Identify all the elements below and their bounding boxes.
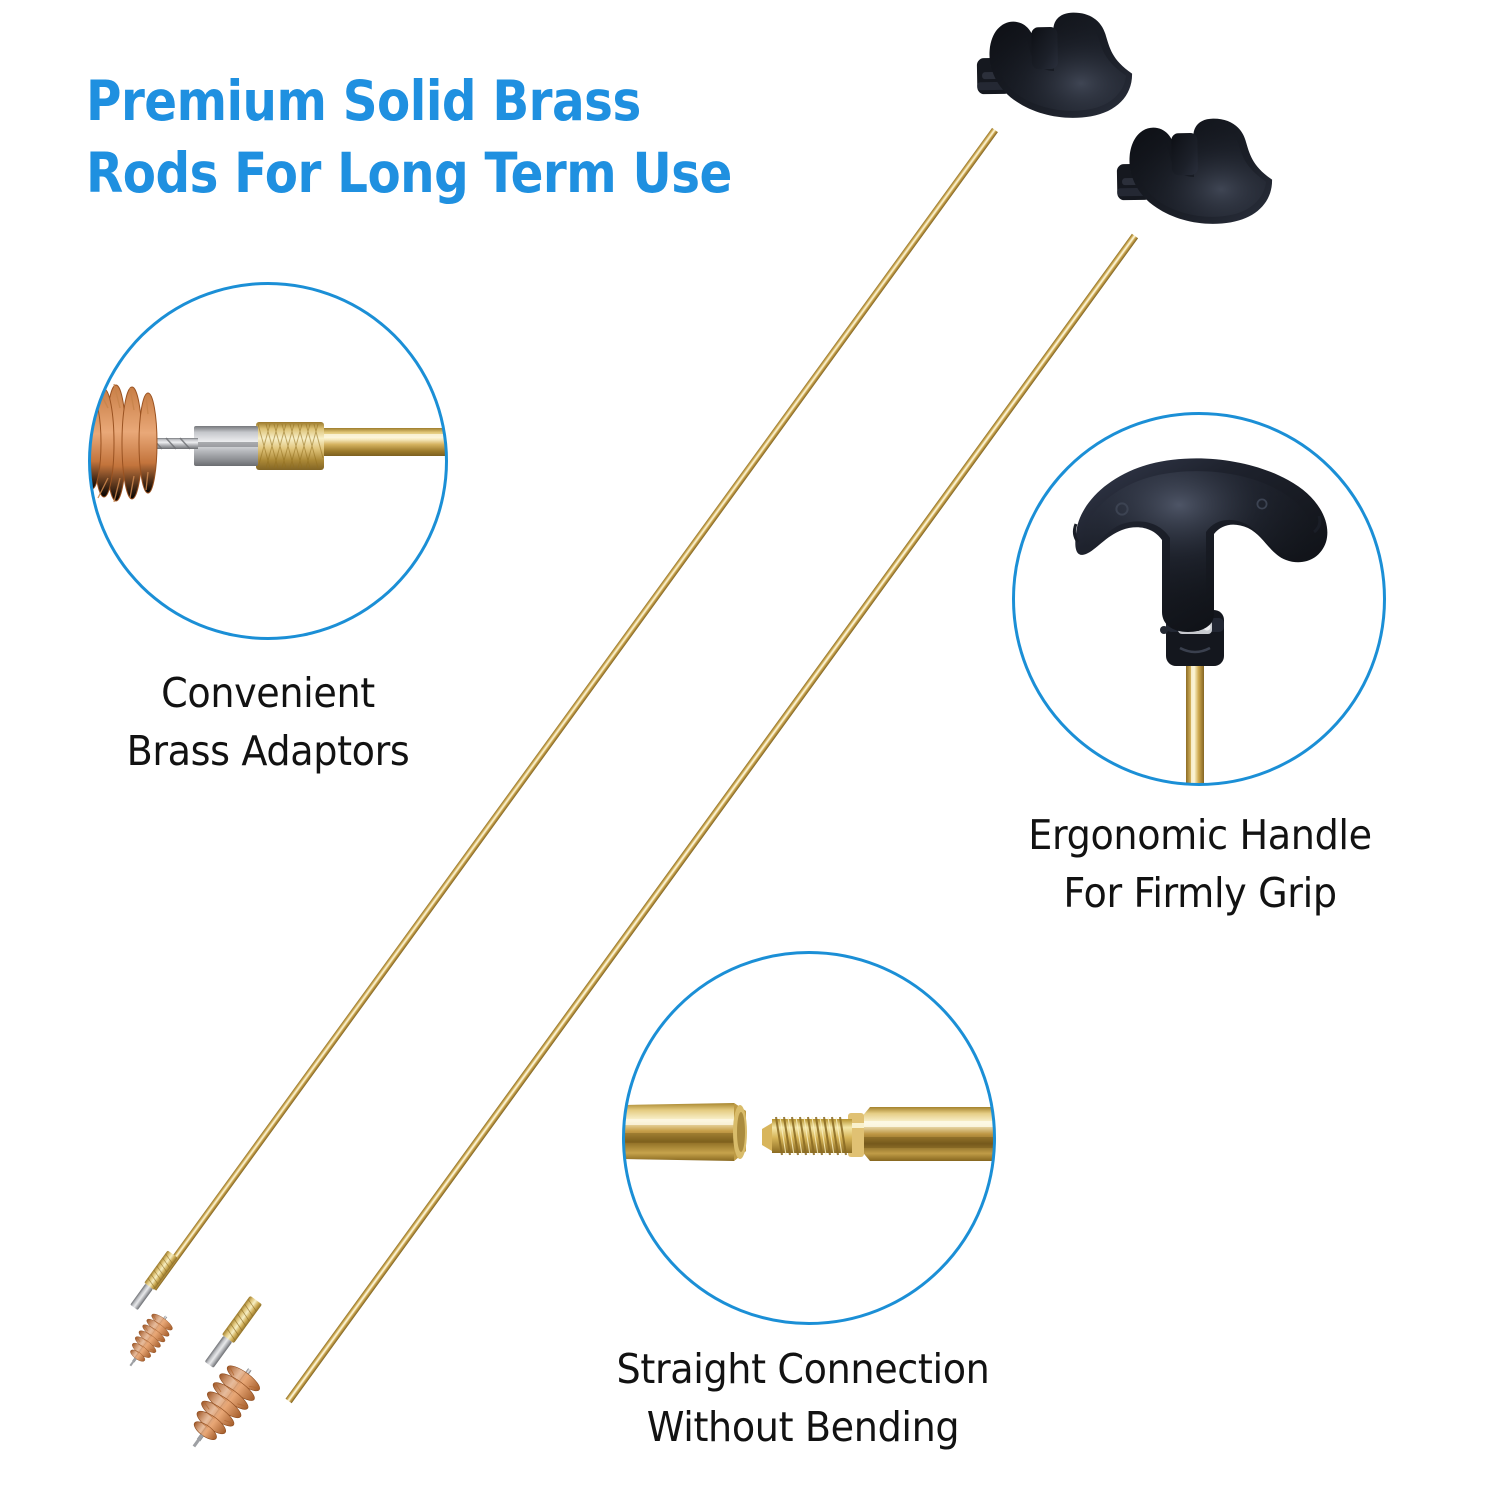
caption-ergonomic-handle: Ergonomic Handle For Firmly Grip [1014,806,1386,922]
caption-ergonomic-handle-line-1: Ergonomic Handle [1014,806,1386,864]
callout-circle-adaptor [88,282,448,640]
caption-brass-adaptors-line-1: Convenient [91,664,444,722]
product-infographic: Premium Solid Brass Rods For Long Term U… [0,0,1500,1500]
caption-brass-adaptors-line-2: Brass Adaptors [91,722,444,780]
caption-brass-adaptors: Convenient Brass Adaptors [91,664,444,780]
caption-straight-connection-line-1: Straight Connection [594,1340,1013,1398]
headline-line-2: Rods For Long Term Use [86,138,755,210]
callout-circle-connection [622,951,996,1325]
callout-circle-handle [1012,412,1386,786]
caption-ergonomic-handle-line-2: For Firmly Grip [1014,864,1386,922]
caption-straight-connection: Straight Connection Without Bending [594,1340,1013,1456]
headline-line-1: Premium Solid Brass [86,66,755,138]
page-title: Premium Solid Brass Rods For Long Term U… [86,66,755,209]
caption-straight-connection-line-2: Without Bending [594,1398,1013,1456]
